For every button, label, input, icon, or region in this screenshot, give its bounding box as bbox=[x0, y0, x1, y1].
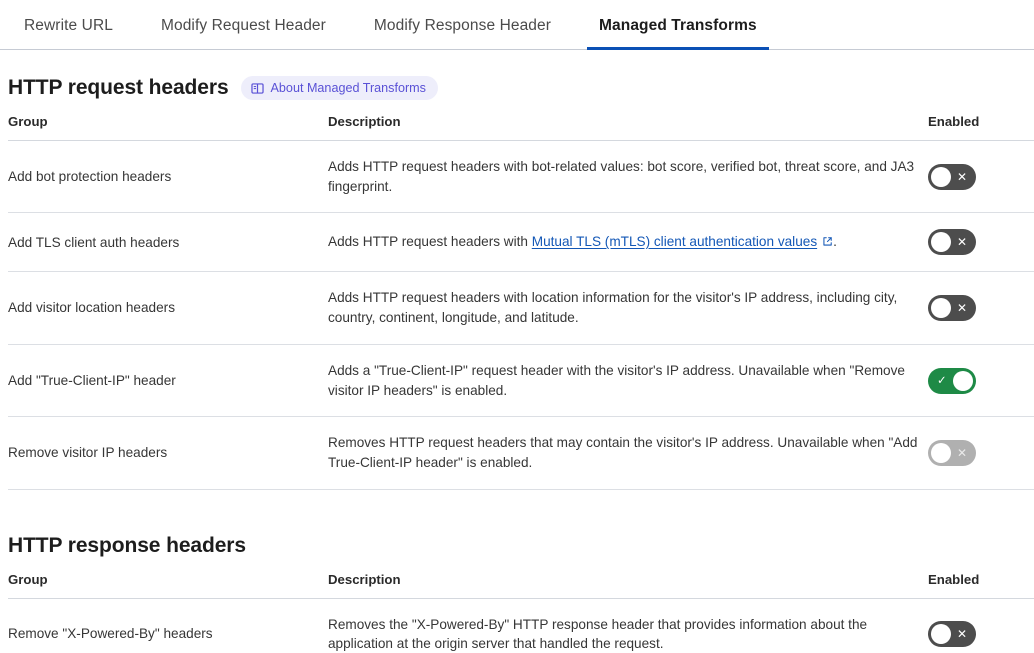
tab-rewrite-url[interactable]: Rewrite URL bbox=[0, 18, 137, 50]
row-description: Adds HTTP request headers with location … bbox=[328, 272, 928, 344]
toggle-off-icon: ✕ bbox=[957, 295, 967, 321]
toggle-add-tls-client-auth-headers[interactable]: ✕ bbox=[928, 229, 976, 255]
mtls-client-auth-link[interactable]: Mutual TLS (mTLS) client authentication … bbox=[532, 234, 817, 249]
row-enabled-cell: ✓ bbox=[928, 344, 1034, 416]
mtls-link-label: Mutual TLS (mTLS) client authentication … bbox=[532, 234, 817, 249]
row-enabled-cell: ✕ bbox=[928, 141, 1034, 213]
column-header-description: Description bbox=[328, 572, 928, 599]
tab-modify-request-header[interactable]: Modify Request Header bbox=[137, 18, 350, 50]
column-header-group: Group bbox=[8, 114, 328, 141]
external-link-icon bbox=[822, 233, 833, 253]
section-spacer bbox=[0, 490, 1034, 508]
toggle-knob bbox=[931, 624, 951, 644]
table-row: Add TLS client auth headers Adds HTTP re… bbox=[8, 213, 1034, 272]
page-title-request: HTTP request headers bbox=[8, 76, 229, 100]
row-group-name: Add bot protection headers bbox=[8, 141, 328, 213]
about-managed-transforms-link[interactable]: About Managed Transforms bbox=[241, 76, 438, 100]
column-header-enabled: Enabled bbox=[928, 114, 1034, 141]
table-row: Remove "X-Powered-By" headers Removes th… bbox=[8, 598, 1034, 653]
toggle-knob bbox=[953, 371, 973, 391]
row-description: Adds HTTP request headers with bot-relat… bbox=[328, 141, 928, 213]
book-icon bbox=[251, 82, 264, 95]
row-description: Adds a "True-Client-IP" request header w… bbox=[328, 344, 928, 416]
column-header-group: Group bbox=[8, 572, 328, 599]
row-enabled-cell: ✕ bbox=[928, 272, 1034, 344]
request-section-header: HTTP request headers About Managed Trans… bbox=[8, 50, 1026, 114]
toggle-add-bot-protection-headers[interactable]: ✕ bbox=[928, 164, 976, 190]
row-group-name: Remove visitor IP headers bbox=[8, 417, 328, 489]
row-enabled-cell: ✕ bbox=[928, 417, 1034, 489]
row-group-name: Remove "X-Powered-By" headers bbox=[8, 598, 328, 653]
toggle-off-icon: ✕ bbox=[957, 229, 967, 255]
tab-modify-response-header[interactable]: Modify Response Header bbox=[350, 18, 575, 50]
row-enabled-cell: ✕ bbox=[928, 598, 1034, 653]
about-badge-label: About Managed Transforms bbox=[271, 81, 426, 95]
http-response-headers-section: HTTP response headers Group Description … bbox=[0, 508, 1034, 653]
column-header-enabled: Enabled bbox=[928, 572, 1034, 599]
table-row: Add "True-Client-IP" header Adds a "True… bbox=[8, 344, 1034, 416]
row-enabled-cell: ✕ bbox=[928, 213, 1034, 272]
toggle-knob bbox=[931, 443, 951, 463]
row-description: Removes the "X-Powered-By" HTTP response… bbox=[328, 598, 928, 653]
request-headers-table: Group Description Enabled Add bot protec… bbox=[8, 114, 1034, 490]
tab-bar: Rewrite URL Modify Request Header Modify… bbox=[0, 0, 1034, 50]
http-request-headers-section: HTTP request headers About Managed Trans… bbox=[0, 50, 1034, 490]
page-content: HTTP request headers About Managed Trans… bbox=[0, 50, 1034, 653]
table-row: Add visitor location headers Adds HTTP r… bbox=[8, 272, 1034, 344]
table-header-row: Group Description Enabled bbox=[8, 572, 1034, 599]
toggle-knob bbox=[931, 232, 951, 252]
toggle-remove-visitor-ip-headers: ✕ bbox=[928, 440, 976, 466]
response-headers-table: Group Description Enabled Remove "X-Powe… bbox=[8, 572, 1034, 653]
table-row: Remove visitor IP headers Removes HTTP r… bbox=[8, 417, 1034, 489]
response-section-header: HTTP response headers bbox=[8, 508, 1026, 572]
column-header-description: Description bbox=[328, 114, 928, 141]
toggle-on-icon: ✓ bbox=[937, 368, 947, 394]
table-row: Add bot protection headers Adds HTTP req… bbox=[8, 141, 1034, 213]
row-description-suffix: . bbox=[833, 234, 837, 249]
toggle-knob bbox=[931, 298, 951, 318]
row-group-name: Add visitor location headers bbox=[8, 272, 328, 344]
toggle-add-true-client-ip-header[interactable]: ✓ bbox=[928, 368, 976, 394]
row-group-name: Add TLS client auth headers bbox=[8, 213, 328, 272]
toggle-add-visitor-location-headers[interactable]: ✕ bbox=[928, 295, 976, 321]
table-header-row: Group Description Enabled bbox=[8, 114, 1034, 141]
row-description-prefix: Adds HTTP request headers with bbox=[328, 234, 532, 249]
tab-managed-transforms[interactable]: Managed Transforms bbox=[575, 18, 781, 50]
toggle-off-icon: ✕ bbox=[957, 164, 967, 190]
toggle-off-icon: ✕ bbox=[957, 621, 967, 647]
row-description: Adds HTTP request headers with Mutual TL… bbox=[328, 213, 928, 272]
row-description: Removes HTTP request headers that may co… bbox=[328, 417, 928, 489]
row-group-name: Add "True-Client-IP" header bbox=[8, 344, 328, 416]
page-title-response: HTTP response headers bbox=[8, 534, 246, 558]
toggle-off-icon: ✕ bbox=[957, 440, 967, 466]
toggle-remove-x-powered-by-headers[interactable]: ✕ bbox=[928, 621, 976, 647]
toggle-knob bbox=[931, 167, 951, 187]
